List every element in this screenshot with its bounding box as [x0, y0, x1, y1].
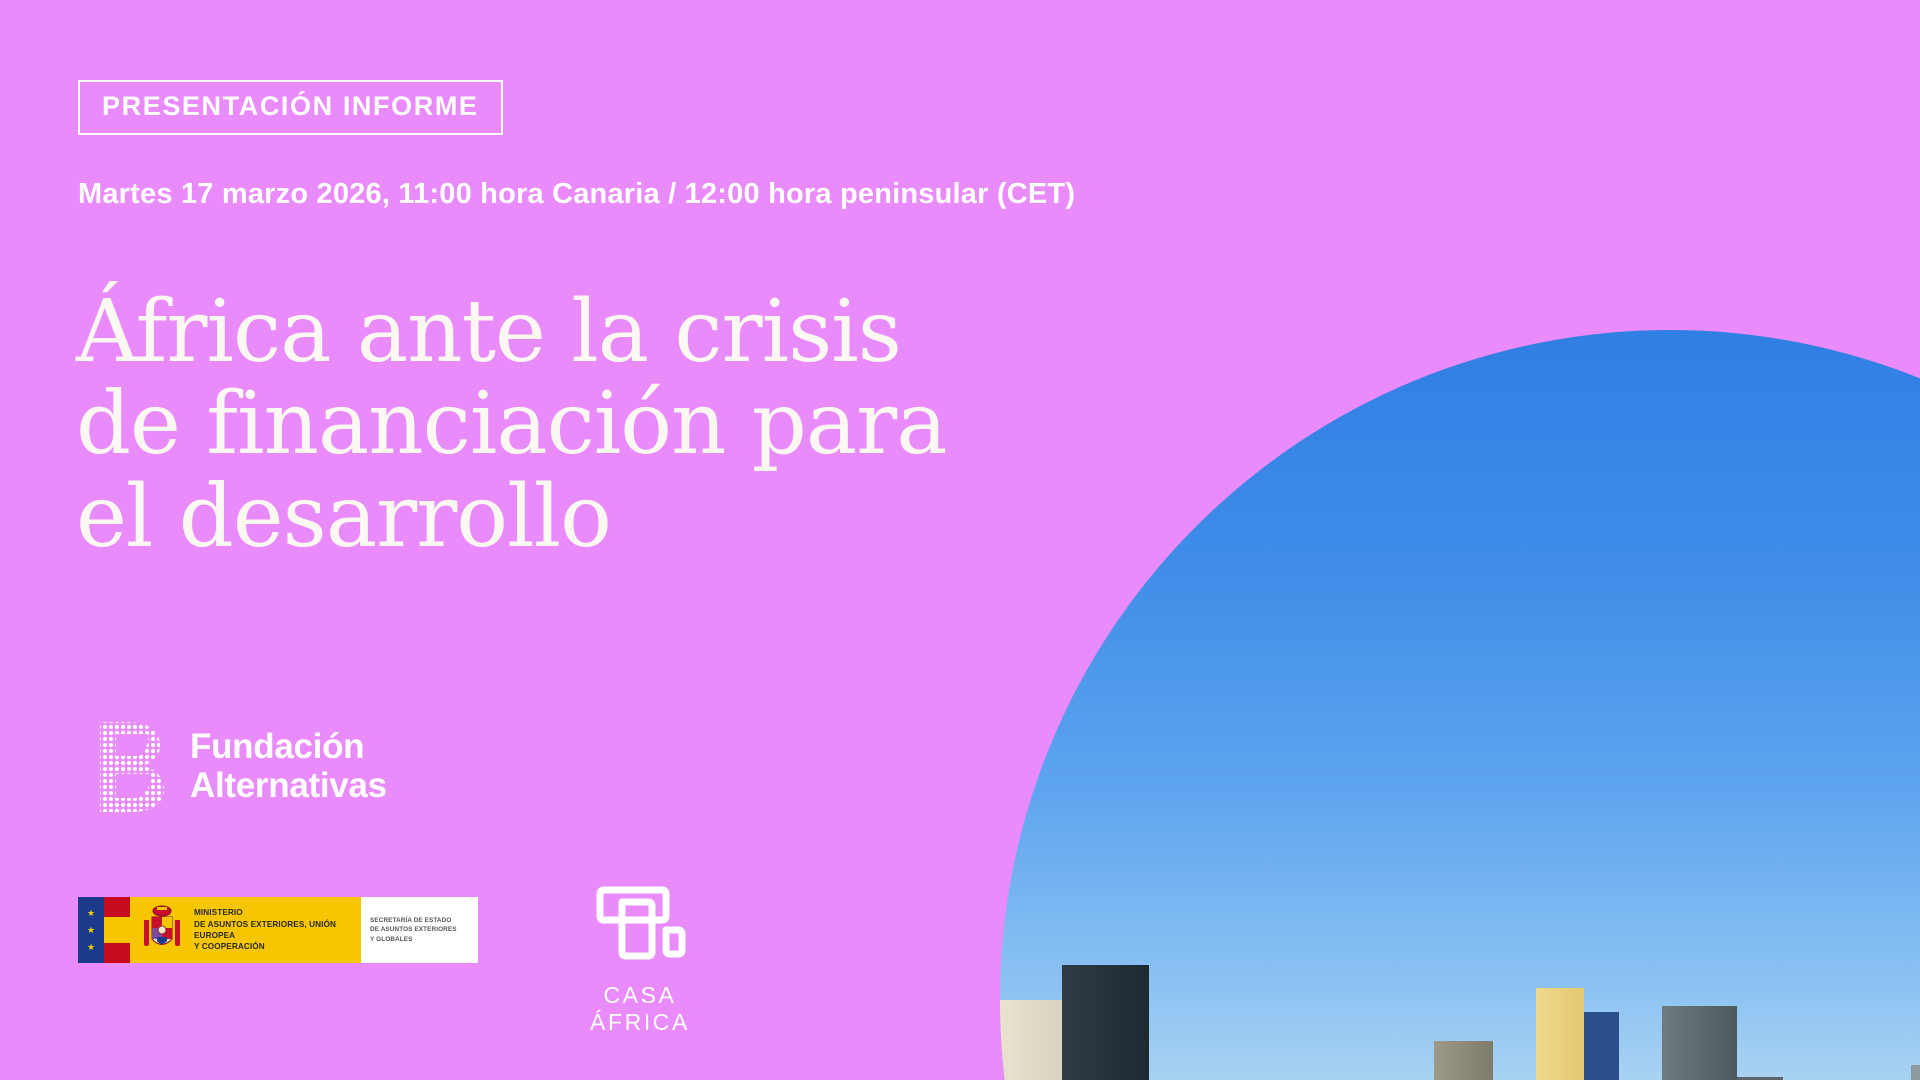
city-photo-circle — [1000, 330, 1920, 1080]
ministerio-line-2: DE ASUNTOS EXTERIORES, UNIÓN EUROPEA — [194, 919, 361, 942]
headline-line-1: África ante la crisis — [76, 286, 1076, 379]
ministerio-line-1: MINISTERIO — [194, 907, 361, 918]
secretaria-line-3: Y GLOBALES — [370, 935, 457, 944]
presentation-badge: PRESENTACIÓN INFORME — [78, 80, 503, 135]
secretaria-line-2: DE ASUNTOS EXTERIORES — [370, 925, 457, 934]
secretaria-text: SECRETARÍA DE ESTADO DE ASUNTOS EXTERIOR… — [370, 916, 457, 943]
ministerio-yellow-panel: MINISTERIO DE ASUNTOS EXTERIORES, UNIÓN … — [130, 897, 361, 963]
ministerio-line-3: Y COOPERACIÓN — [194, 941, 361, 952]
city-photo — [1000, 330, 1920, 1080]
fundacion-alternativas-logo: Fundación Alternativas — [90, 718, 387, 814]
fundacion-line-2: Alternativas — [190, 766, 387, 805]
casa-africa-mark-icon — [560, 880, 720, 972]
spain-coat-of-arms-icon — [140, 904, 184, 956]
halftone-a-mark-icon — [90, 718, 168, 814]
secretaria-panel: SECRETARÍA DE ESTADO DE ASUNTOS EXTERIOR… — [361, 897, 478, 963]
event-datetime: Martes 17 marzo 2026, 11:00 hora Canaria… — [78, 178, 1075, 211]
poster-canvas: PRESENTACIÓN INFORME Martes 17 marzo 202… — [0, 0, 1920, 1080]
badge-label: PRESENTACIÓN INFORME — [102, 91, 479, 121]
page-title: África ante la crisis de financiación pa… — [76, 286, 1076, 565]
ministerio-logo: ★★★ — [78, 897, 478, 963]
casa-africa-label: CASA ÁFRICA — [560, 982, 720, 1036]
casa-africa-logo: CASA ÁFRICA — [560, 880, 720, 1036]
headline-line-3: el desarrollo — [76, 471, 1076, 564]
fundacion-alternativas-wordmark: Fundación Alternativas — [190, 727, 387, 805]
ministerio-text: MINISTERIO DE ASUNTOS EXTERIORES, UNIÓN … — [194, 907, 361, 952]
headline-line-2: de financiación para — [76, 378, 1076, 471]
fundacion-line-1: Fundación — [190, 727, 387, 766]
secretaria-line-1: SECRETARÍA DE ESTADO — [370, 916, 457, 925]
spain-eu-flag-icon: ★★★ — [78, 897, 130, 963]
skyline-buildings — [1000, 1000, 1920, 1080]
